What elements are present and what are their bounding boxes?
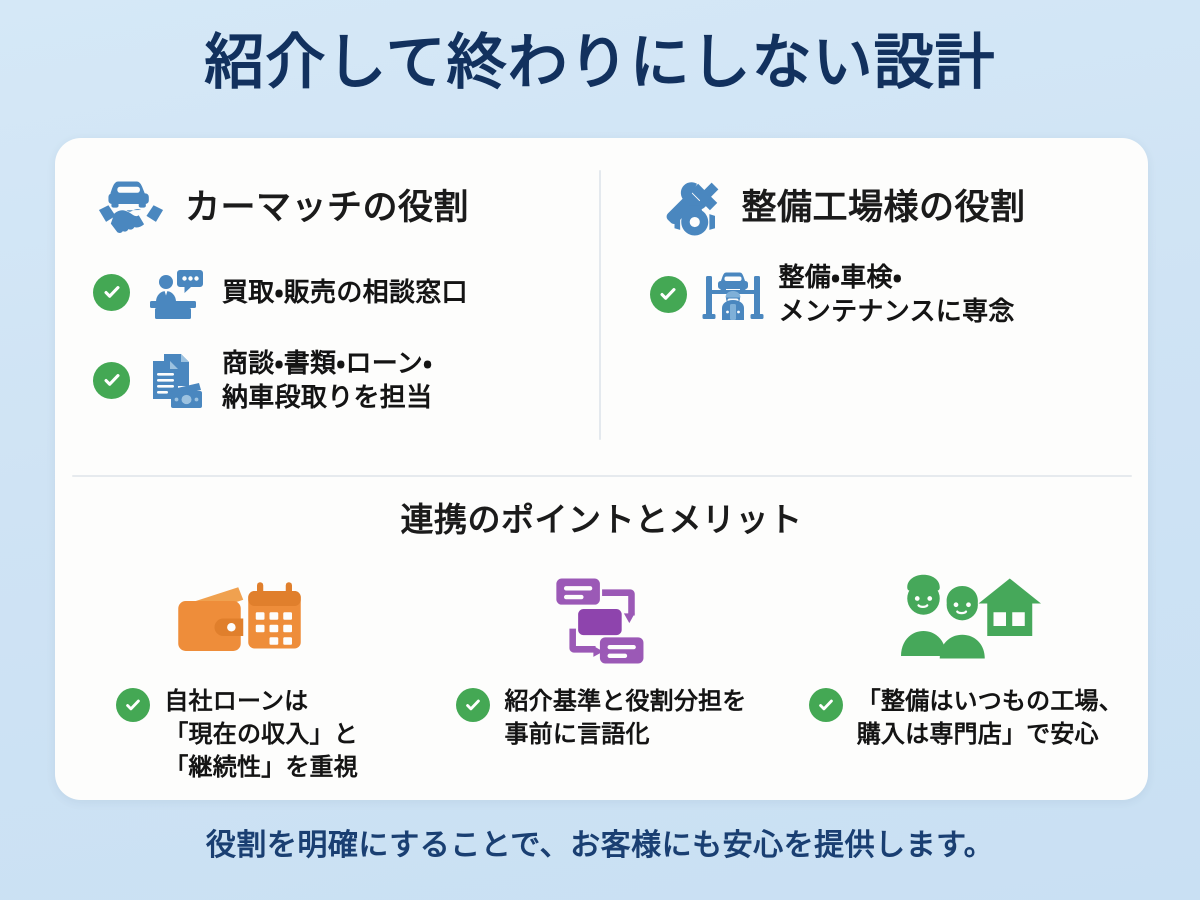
main-card: カーマッチの役割	[55, 138, 1148, 800]
benefits-section: 連携のポイントとメリット	[55, 483, 1148, 784]
family-house-icon	[891, 571, 1041, 671]
check-icon	[93, 274, 130, 311]
list-item-label: 買取・販売の相談窓口	[222, 275, 468, 309]
benefit-label: 「整備はいつもの工場、 購入は専門店」で安心	[857, 685, 1123, 751]
benefit-line: 「整備はいつもの工場、 購入は専門店」で安心	[809, 685, 1123, 751]
role-items-workshop: 整備・車検・ メンテナンスに専念	[650, 260, 1125, 329]
benefit-line: 紹介基準と役割分担を 事前に言語化	[456, 685, 746, 751]
page-title: 紹介して終わりにしない設計	[0, 30, 1200, 96]
car-handshake-icon	[93, 166, 169, 242]
flowchart-icon	[541, 571, 661, 671]
roles-section: カーマッチの役割	[55, 138, 1148, 475]
role-items-carmatch: 買取・販売の相談窓口	[93, 260, 578, 415]
footer-note: 役割を明確にすることで、お客様にも安心を提供します。	[0, 820, 1200, 864]
benefit-card-loan: 自社ローンは 「現在の収入」と 「継続性」を重視	[55, 571, 419, 784]
list-item: 整備・車検・ メンテナンスに専念	[650, 260, 1125, 329]
section-divider	[72, 475, 1132, 477]
role-title-carmatch: カーマッチの役割	[185, 179, 469, 230]
slide-root: 紹介して終わりにしない設計	[0, 0, 1200, 900]
car-lift-mechanic-icon	[701, 262, 765, 326]
list-item: 買取・販売の相談窓口	[93, 260, 578, 324]
benefits-heading: 連携のポイントとメリット	[55, 493, 1148, 541]
gear-wrench-icon	[650, 166, 726, 242]
role-column-carmatch: カーマッチの役割	[55, 138, 602, 475]
check-icon	[93, 362, 130, 399]
wallet-calendar-icon	[162, 571, 312, 671]
role-title-workshop: 整備工場様の役割	[742, 179, 1026, 230]
role-header-carmatch: カーマッチの役割	[93, 166, 578, 242]
check-icon	[456, 688, 490, 722]
list-item-label: 整備・車検・ メンテナンスに専念	[779, 260, 1015, 329]
check-icon	[650, 276, 687, 313]
list-item: 商談・書類・ローン・ 納車段取りを担当	[93, 346, 578, 415]
benefit-card-criteria: 紹介基準と役割分担を 事前に言語化	[419, 571, 783, 784]
check-icon	[116, 688, 150, 722]
benefit-line: 自社ローンは 「現在の収入」と 「継続性」を重視	[116, 685, 358, 784]
benefit-label: 自社ローンは 「現在の収入」と 「継続性」を重視	[164, 685, 358, 784]
benefit-card-trust: 「整備はいつもの工場、 購入は専門店」で安心	[784, 571, 1148, 784]
role-header-workshop: 整備工場様の役割	[650, 166, 1125, 242]
role-column-workshop: 整備工場様の役割	[602, 138, 1149, 475]
list-item-label: 商談・書類・ローン・ 納車段取りを担当	[222, 346, 432, 415]
documents-money-icon	[144, 348, 208, 412]
check-icon	[809, 688, 843, 722]
benefits-row: 自社ローンは 「現在の収入」と 「継続性」を重視	[55, 571, 1148, 784]
consultant-desk-icon	[144, 260, 208, 324]
benefit-label: 紹介基準と役割分担を 事前に言語化	[504, 685, 746, 751]
